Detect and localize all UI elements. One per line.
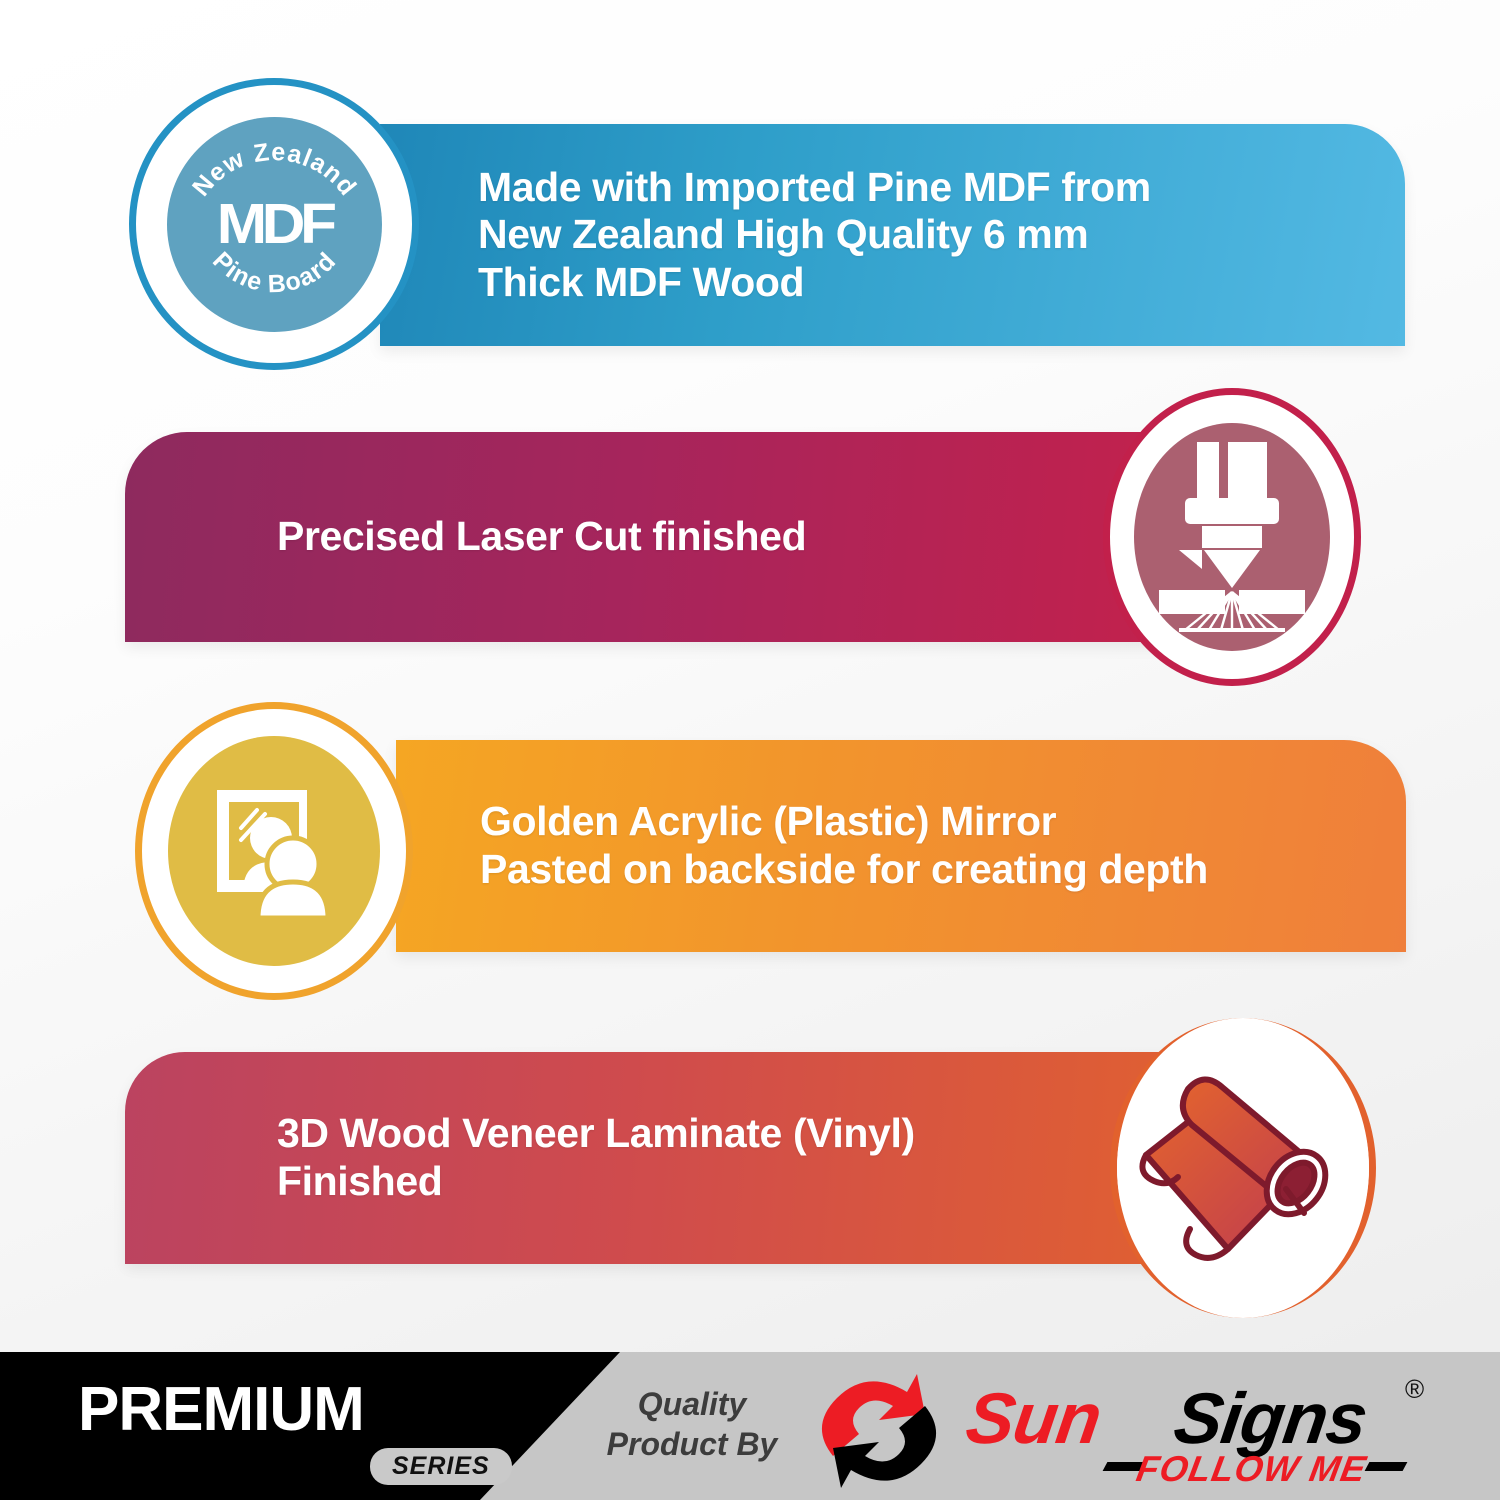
logo-tick-right	[1365, 1462, 1408, 1471]
feature-bar-acrylic-mirror: Golden Acrylic (Plastic) Mirror Pasted o…	[396, 740, 1406, 952]
logo-sun-text: Sun	[961, 1378, 1106, 1460]
badge-inner-disc: New Zealand Pine Board MDF	[167, 117, 382, 332]
mirror-icon-disc	[168, 736, 380, 966]
feature-bar-mdf-material: Made with Imported Pine MDF from New Zea…	[380, 124, 1405, 346]
footer-bar: PREMIUM SERIES Quality Product By Sun Si…	[0, 1352, 1500, 1500]
vinyl-roll-icon	[1110, 1018, 1376, 1318]
laser-icon-disc	[1134, 423, 1330, 651]
feature-text-laser-cut: Precised Laser Cut finished	[277, 513, 806, 561]
feature-bar-laser-cut: Precised Laser Cut finished	[125, 432, 1237, 642]
series-badge: SERIES	[370, 1448, 512, 1485]
quality-product-by-label: Quality Product By	[592, 1384, 792, 1464]
badge-center-label: MDF	[217, 191, 332, 257]
mdf-pine-board-badge-icon: New Zealand Pine Board MDF	[129, 78, 419, 370]
premium-label: PREMIUM	[78, 1374, 364, 1445]
mirror-reflection-icon	[135, 702, 413, 1000]
laser-cutter-icon	[1103, 388, 1361, 686]
mirror-glyph	[199, 776, 349, 926]
feature-bar-wood-veneer: 3D Wood Veneer Laminate (Vinyl) Finished	[125, 1052, 1237, 1264]
sunsigns-logo[interactable]: Sun Signs ® FOLLOW ME	[815, 1370, 1455, 1492]
sunsigns-arrow-icon	[815, 1370, 965, 1492]
vinyl-icon-disc	[1117, 1018, 1369, 1318]
feature-text-acrylic-mirror: Golden Acrylic (Plastic) Mirror Pasted o…	[480, 798, 1208, 893]
feature-text-mdf-material: Made with Imported Pine MDF from New Zea…	[478, 164, 1151, 307]
registered-trademark-icon: ®	[1405, 1374, 1424, 1405]
logo-follow-me-text: FOLLOW ME	[1133, 1448, 1369, 1490]
laser-cutter-glyph	[1157, 442, 1307, 632]
vinyl-roll-glyph	[1128, 1043, 1358, 1293]
infographic-stage: Made with Imported Pine MDF from New Zea…	[0, 0, 1500, 1500]
feature-text-wood-veneer: 3D Wood Veneer Laminate (Vinyl) Finished	[277, 1110, 915, 1205]
